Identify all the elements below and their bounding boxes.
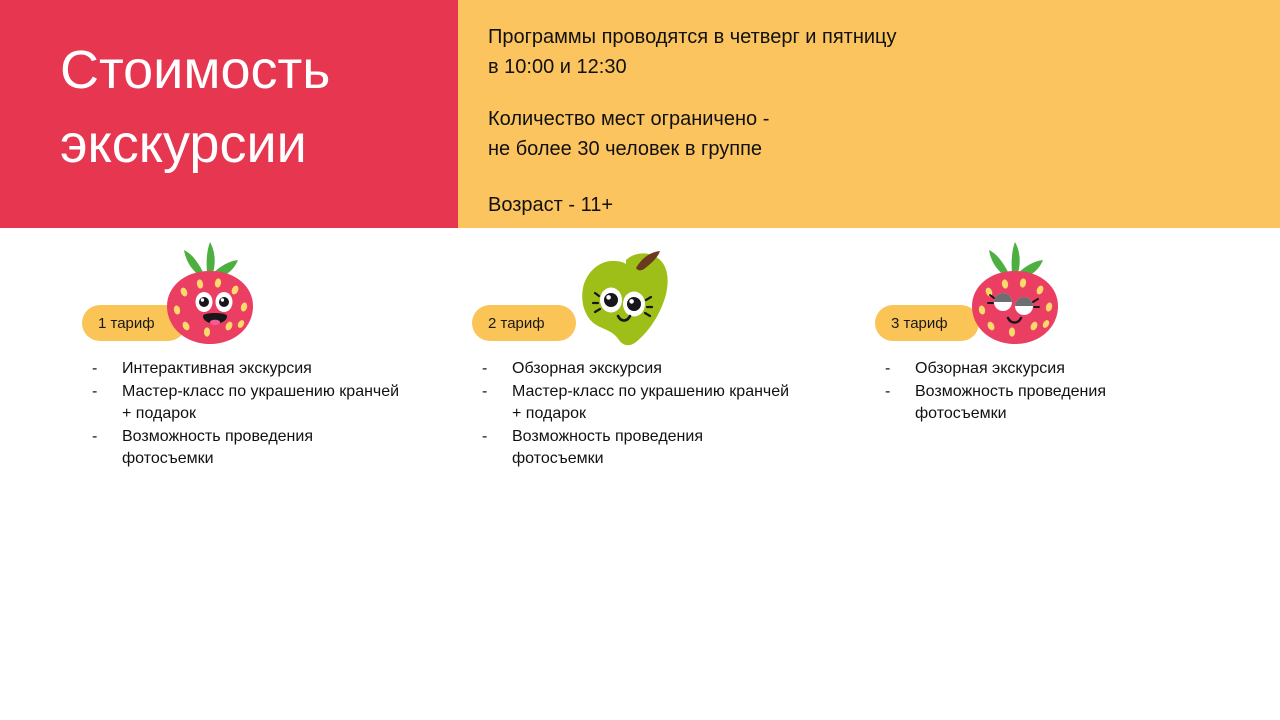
list-item: - Обзорная экскурсия: [474, 358, 794, 380]
tariff-header-3: 3 тариф: [865, 240, 1205, 350]
list-bullet: -: [92, 358, 97, 380]
list-item: - Интерактивная экскурсия: [84, 358, 404, 380]
list-bullet: -: [482, 358, 487, 380]
tariff-header-2: 2 тариф: [462, 240, 802, 350]
page-title: Стоимость экскурсии: [60, 33, 440, 181]
list-item-text: Возможность проведения фотосъемки: [122, 428, 313, 467]
strawberry-smiling-icon: [963, 240, 1067, 348]
list-item-text: Обзорная экскурсия: [915, 360, 1065, 377]
strawberry-happy-icon: [158, 240, 262, 348]
info-panel: Программы проводятся в четверг и пятницу…: [458, 0, 1280, 228]
list-bullet: -: [482, 381, 487, 403]
tariff-column-2: 2 тариф: [462, 240, 802, 500]
green-apple-icon: [574, 242, 678, 350]
tariff-pill-label-1: 1 тариф: [82, 316, 155, 331]
title-panel: Стоимость экскурсии: [0, 0, 458, 228]
tariff-pill-label-3: 3 тариф: [875, 316, 948, 331]
tariff-pill-label-2: 2 тариф: [472, 316, 545, 331]
tariff-list-2: - Обзорная экскурсия - Мастер-класс по у…: [474, 358, 794, 471]
list-bullet: -: [885, 381, 890, 403]
tariff-pill-2[interactable]: 2 тариф: [472, 305, 576, 341]
info-schedule: Программы проводятся в четверг и пятницу…: [488, 22, 897, 82]
info-age: Возраст - 11+: [488, 190, 613, 220]
list-item-text: Мастер-класс по украшению кранчей + пода…: [512, 383, 789, 422]
info-capacity: Количество мест ограничено - не более 30…: [488, 104, 769, 164]
list-item: - Мастер-класс по украшению кранчей + по…: [84, 381, 404, 425]
list-item: - Обзорная экскурсия: [877, 358, 1197, 380]
list-bullet: -: [482, 426, 487, 448]
tariff-header-1: 1 тариф: [72, 240, 412, 350]
list-item-text: Мастер-класс по украшению кранчей + пода…: [122, 383, 399, 422]
header-band: Стоимость экскурсии Программы проводятся…: [0, 0, 1280, 228]
list-item-text: Обзорная экскурсия: [512, 360, 662, 377]
list-item-text: Возможность проведения фотосъемки: [512, 428, 703, 467]
list-bullet: -: [92, 381, 97, 403]
list-bullet: -: [92, 426, 97, 448]
list-item-text: Возможность проведения фотосъемки: [915, 383, 1106, 422]
list-bullet: -: [885, 358, 890, 380]
list-item: - Возможность проведения фотосъемки: [474, 426, 794, 470]
tariff-column-1: 1 тариф: [72, 240, 412, 500]
tariff-list-1: - Интерактивная экскурсия - Мастер-класс…: [84, 358, 404, 471]
tariff-list-3: - Обзорная экскурсия - Возможность прове…: [877, 358, 1197, 426]
list-item: - Мастер-класс по украшению кранчей + по…: [474, 381, 794, 425]
list-item: - Возможность проведения фотосъемки: [84, 426, 404, 470]
tariff-column-3: 3 тариф: [865, 240, 1205, 500]
list-item-text: Интерактивная экскурсия: [122, 360, 312, 377]
list-item: - Возможность проведения фотосъемки: [877, 381, 1197, 425]
